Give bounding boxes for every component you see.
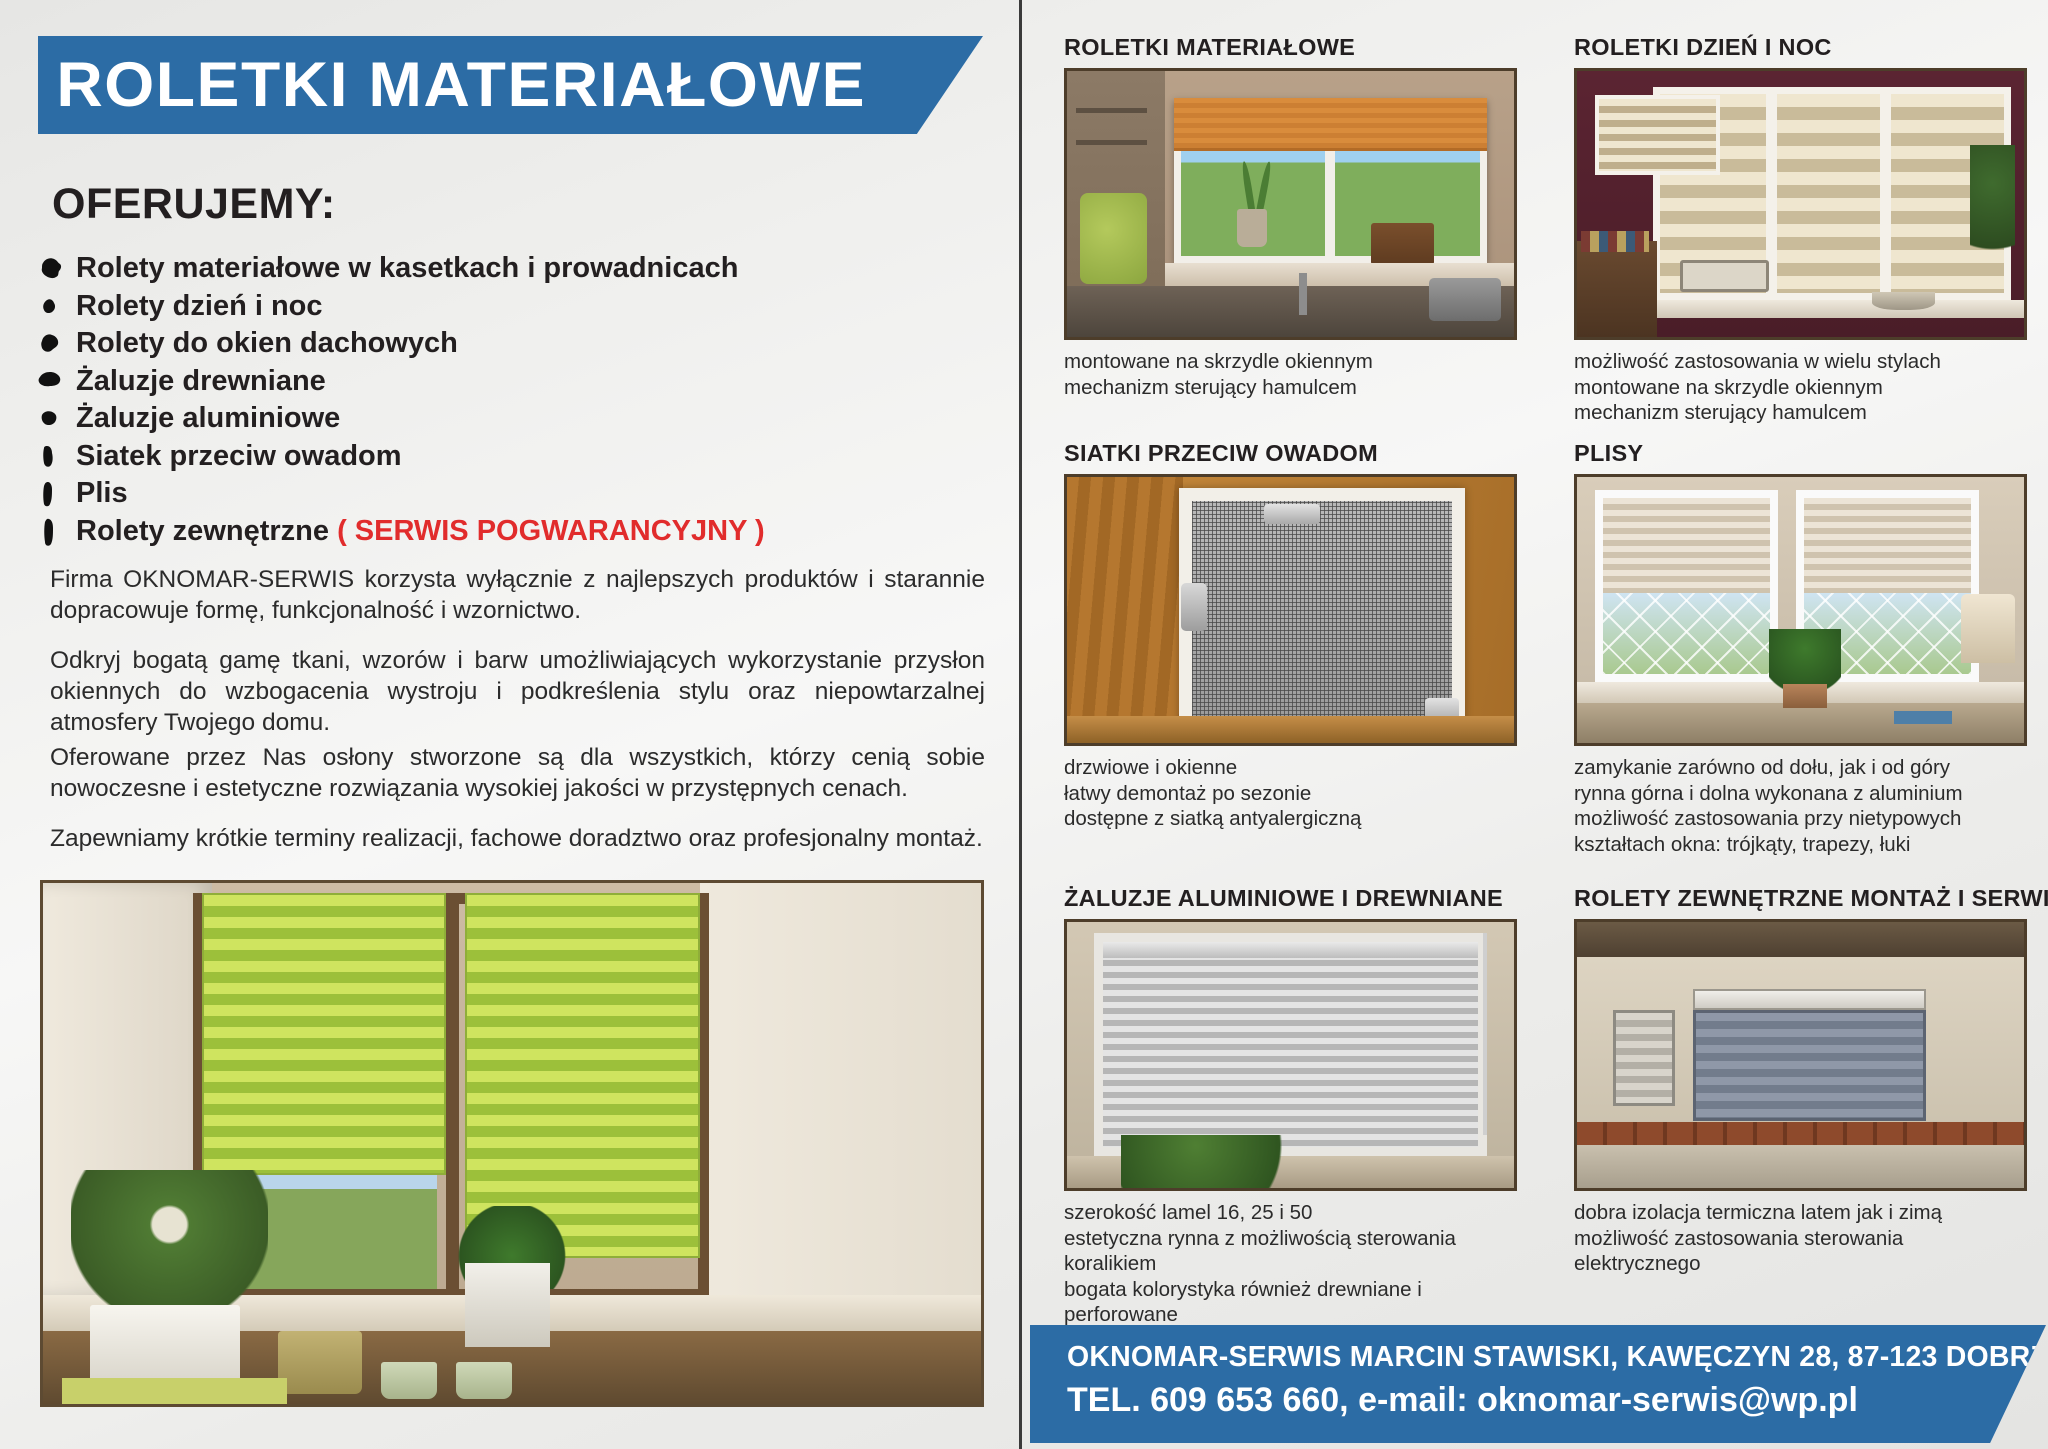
gallery-cell-roletki-dzien-i-noc: ROLETKI DZIEŃ I NOC moż xyxy=(1574,34,2027,426)
ink-blot-bullet-icon xyxy=(36,329,66,359)
feature-photo-day-night-blind xyxy=(40,880,984,1407)
gallery-panel: ROLETKI MATERIAŁOWE xyxy=(1022,0,2048,1449)
photo-artwork xyxy=(1577,71,2024,337)
ink-blot-bullet-icon xyxy=(36,517,66,547)
gallery-photo xyxy=(1574,68,2027,340)
contact-footer-banner: OKNOMAR-SERWIS MARCIN STAWISKI, KAWĘCZYN… xyxy=(1030,1325,2046,1443)
list-item: Żaluzje aluminiowe xyxy=(30,400,990,438)
body-paragraph-3: Oferowane przez Nas osłony stworzone są … xyxy=(50,742,985,804)
gallery-photo xyxy=(1064,68,1517,340)
photo-artwork xyxy=(43,883,981,1404)
gallery-heading: ROLETKI MATERIAŁOWE xyxy=(1064,34,1517,61)
ink-blot-bullet-icon xyxy=(36,442,66,472)
list-item-label: Rolety do okien dachowych xyxy=(76,327,458,359)
gallery-cell-zaluzje-aluminiowe-i-drewniane: ŻALUZJE ALUMINIOWE I DREWNIANE szerokość… xyxy=(1064,885,1517,1328)
gallery-cell-siatki-przeciw-owadom: SIATKI PRZECIW OWADOM drzwiowe i okienne… xyxy=(1064,440,1517,832)
photo-artwork xyxy=(1577,922,2024,1188)
gallery-heading: SIATKI PRZECIW OWADOM xyxy=(1064,440,1517,467)
gallery-caption: możliwość zastosowania w wielu stylachmo… xyxy=(1574,349,2027,426)
gallery-caption: montowane na skrzydle okiennymmechanizm … xyxy=(1064,349,1517,400)
poster-page: ROLETKI MATERIAŁOWE OFERUJEMY: Rolety ma… xyxy=(0,0,2048,1449)
offer-heading: OFERUJEMY: xyxy=(52,180,336,229)
gallery-cell-plisy: PLISY zamykanie zarówno od dołu, jak i o… xyxy=(1574,440,2027,857)
list-item-label: Rolety materiałowe w kasetkach i prowadn… xyxy=(76,252,738,284)
photo-artwork xyxy=(1067,71,1514,337)
gallery-heading: ROLETKI DZIEŃ I NOC xyxy=(1574,34,2027,61)
ink-blot-bullet-icon xyxy=(36,367,66,397)
ink-blot-bullet-icon xyxy=(36,254,66,284)
body-paragraph-2: Odkryj bogatą gamę tkani, wzorów i barw … xyxy=(50,645,985,738)
footer-contact: TEL. 609 653 660, e-mail: oknomar-serwis… xyxy=(1067,1381,2046,1420)
list-item: Żaluzje drewniane xyxy=(30,363,990,401)
gallery-photo xyxy=(1574,474,2027,746)
list-item-label: Rolety zewnętrzne xyxy=(76,515,337,547)
list-item: Rolety do okien dachowych xyxy=(30,325,990,363)
photo-artwork xyxy=(1067,477,1514,743)
gallery-cell-rolety-zewnetrzne: ROLETY ZEWNĘTRZNE MONTAŻ I SERWIS dobra … xyxy=(1574,885,2027,1277)
photo-artwork xyxy=(1577,477,2024,743)
list-item-label: Rolety dzień i noc xyxy=(76,290,323,322)
list-item: Rolety dzień i noc xyxy=(30,288,990,326)
photo-artwork xyxy=(1067,922,1514,1188)
title-banner: ROLETKI MATERIAŁOWE xyxy=(38,36,983,134)
list-item-highlight: ( SERWIS POGWARANCYJNY ) xyxy=(337,515,765,547)
body-paragraph-1: Firma OKNOMAR-SERWIS korzysta wyłącznie … xyxy=(50,564,985,626)
list-item: Plis xyxy=(30,475,990,513)
gallery-photo xyxy=(1064,919,1517,1191)
ink-blot-bullet-icon xyxy=(36,479,66,509)
gallery-heading: PLISY xyxy=(1574,440,2027,467)
list-item: Rolety zewnętrzne ( SERWIS POGWARANCYJNY… xyxy=(30,513,990,551)
offer-list: Rolety materiałowe w kasetkach i prowadn… xyxy=(30,250,990,550)
gallery-heading: ROLETY ZEWNĘTRZNE MONTAŻ I SERWIS xyxy=(1574,885,2027,912)
gallery-caption: drzwiowe i okiennełatwy demontaż po sezo… xyxy=(1064,755,1517,832)
list-item-label: Siatek przeciw owadom xyxy=(76,440,402,472)
list-item-label: Żaluzje aluminiowe xyxy=(76,402,340,434)
footer-address: OKNOMAR-SERWIS MARCIN STAWISKI, KAWĘCZYN… xyxy=(1067,1341,2046,1374)
list-item-label: Żaluzje drewniane xyxy=(76,365,326,397)
body-paragraph-4: Zapewniamy krótkie terminy realizacji, f… xyxy=(50,823,985,854)
ink-blot-bullet-icon xyxy=(36,292,66,322)
list-item: Rolety materiałowe w kasetkach i prowadn… xyxy=(30,250,990,288)
ink-blot-bullet-icon xyxy=(36,404,66,434)
gallery-photo xyxy=(1574,919,2027,1191)
gallery-heading: ŻALUZJE ALUMINIOWE I DREWNIANE xyxy=(1064,885,1517,912)
gallery-photo xyxy=(1064,474,1517,746)
list-item: Siatek przeciw owadom xyxy=(30,438,990,476)
gallery-cell-roletki-materialowe: ROLETKI MATERIAŁOWE xyxy=(1064,34,1517,400)
page-title: ROLETKI MATERIAŁOWE xyxy=(30,49,866,121)
list-item-label: Plis xyxy=(76,477,128,509)
left-panel: ROLETKI MATERIAŁOWE OFERUJEMY: Rolety ma… xyxy=(0,0,1019,1449)
gallery-caption: dobra izolacja termiczna latem jak i zim… xyxy=(1574,1200,2027,1277)
gallery-caption: szerokość lamel 16, 25 i 50estetyczna ry… xyxy=(1064,1200,1517,1328)
gallery-caption: zamykanie zarówno od dołu, jak i od góry… xyxy=(1574,755,2027,857)
